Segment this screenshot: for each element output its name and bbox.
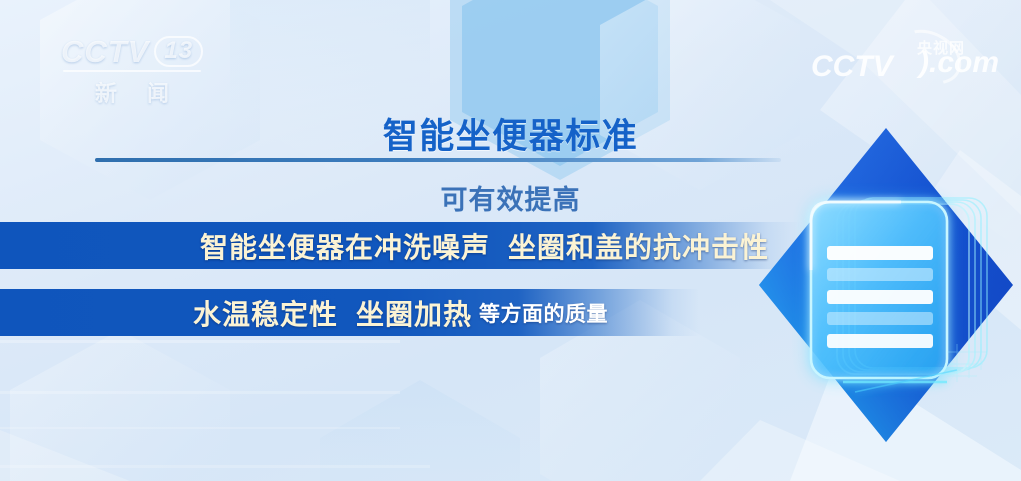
banner-2-emphasis: 水温稳定性	[193, 293, 338, 333]
banner-bar-1: 智能坐便器在冲洗噪声 坐圈和盖的抗冲击性	[0, 222, 800, 269]
banner-bar-2: 水温稳定性 坐圈加热 等方面的质量	[0, 289, 700, 336]
banner-2-emphasis-2: 坐圈加热	[356, 293, 472, 333]
banner-1-emphasis: 智能坐便器在冲洗噪声	[200, 226, 490, 266]
document-standard-icon	[751, 120, 1021, 481]
banner-1-emphasis-2: 坐圈和盖的抗冲击性	[508, 226, 769, 266]
title-divider	[95, 158, 781, 162]
broadcast-graphic-stage: CCTV 13 新 闻 CCTV ).com 央视网 智能坐便器标准 可有效提高…	[0, 0, 1021, 481]
banner-2-trailing: 等方面的质量	[479, 298, 608, 328]
